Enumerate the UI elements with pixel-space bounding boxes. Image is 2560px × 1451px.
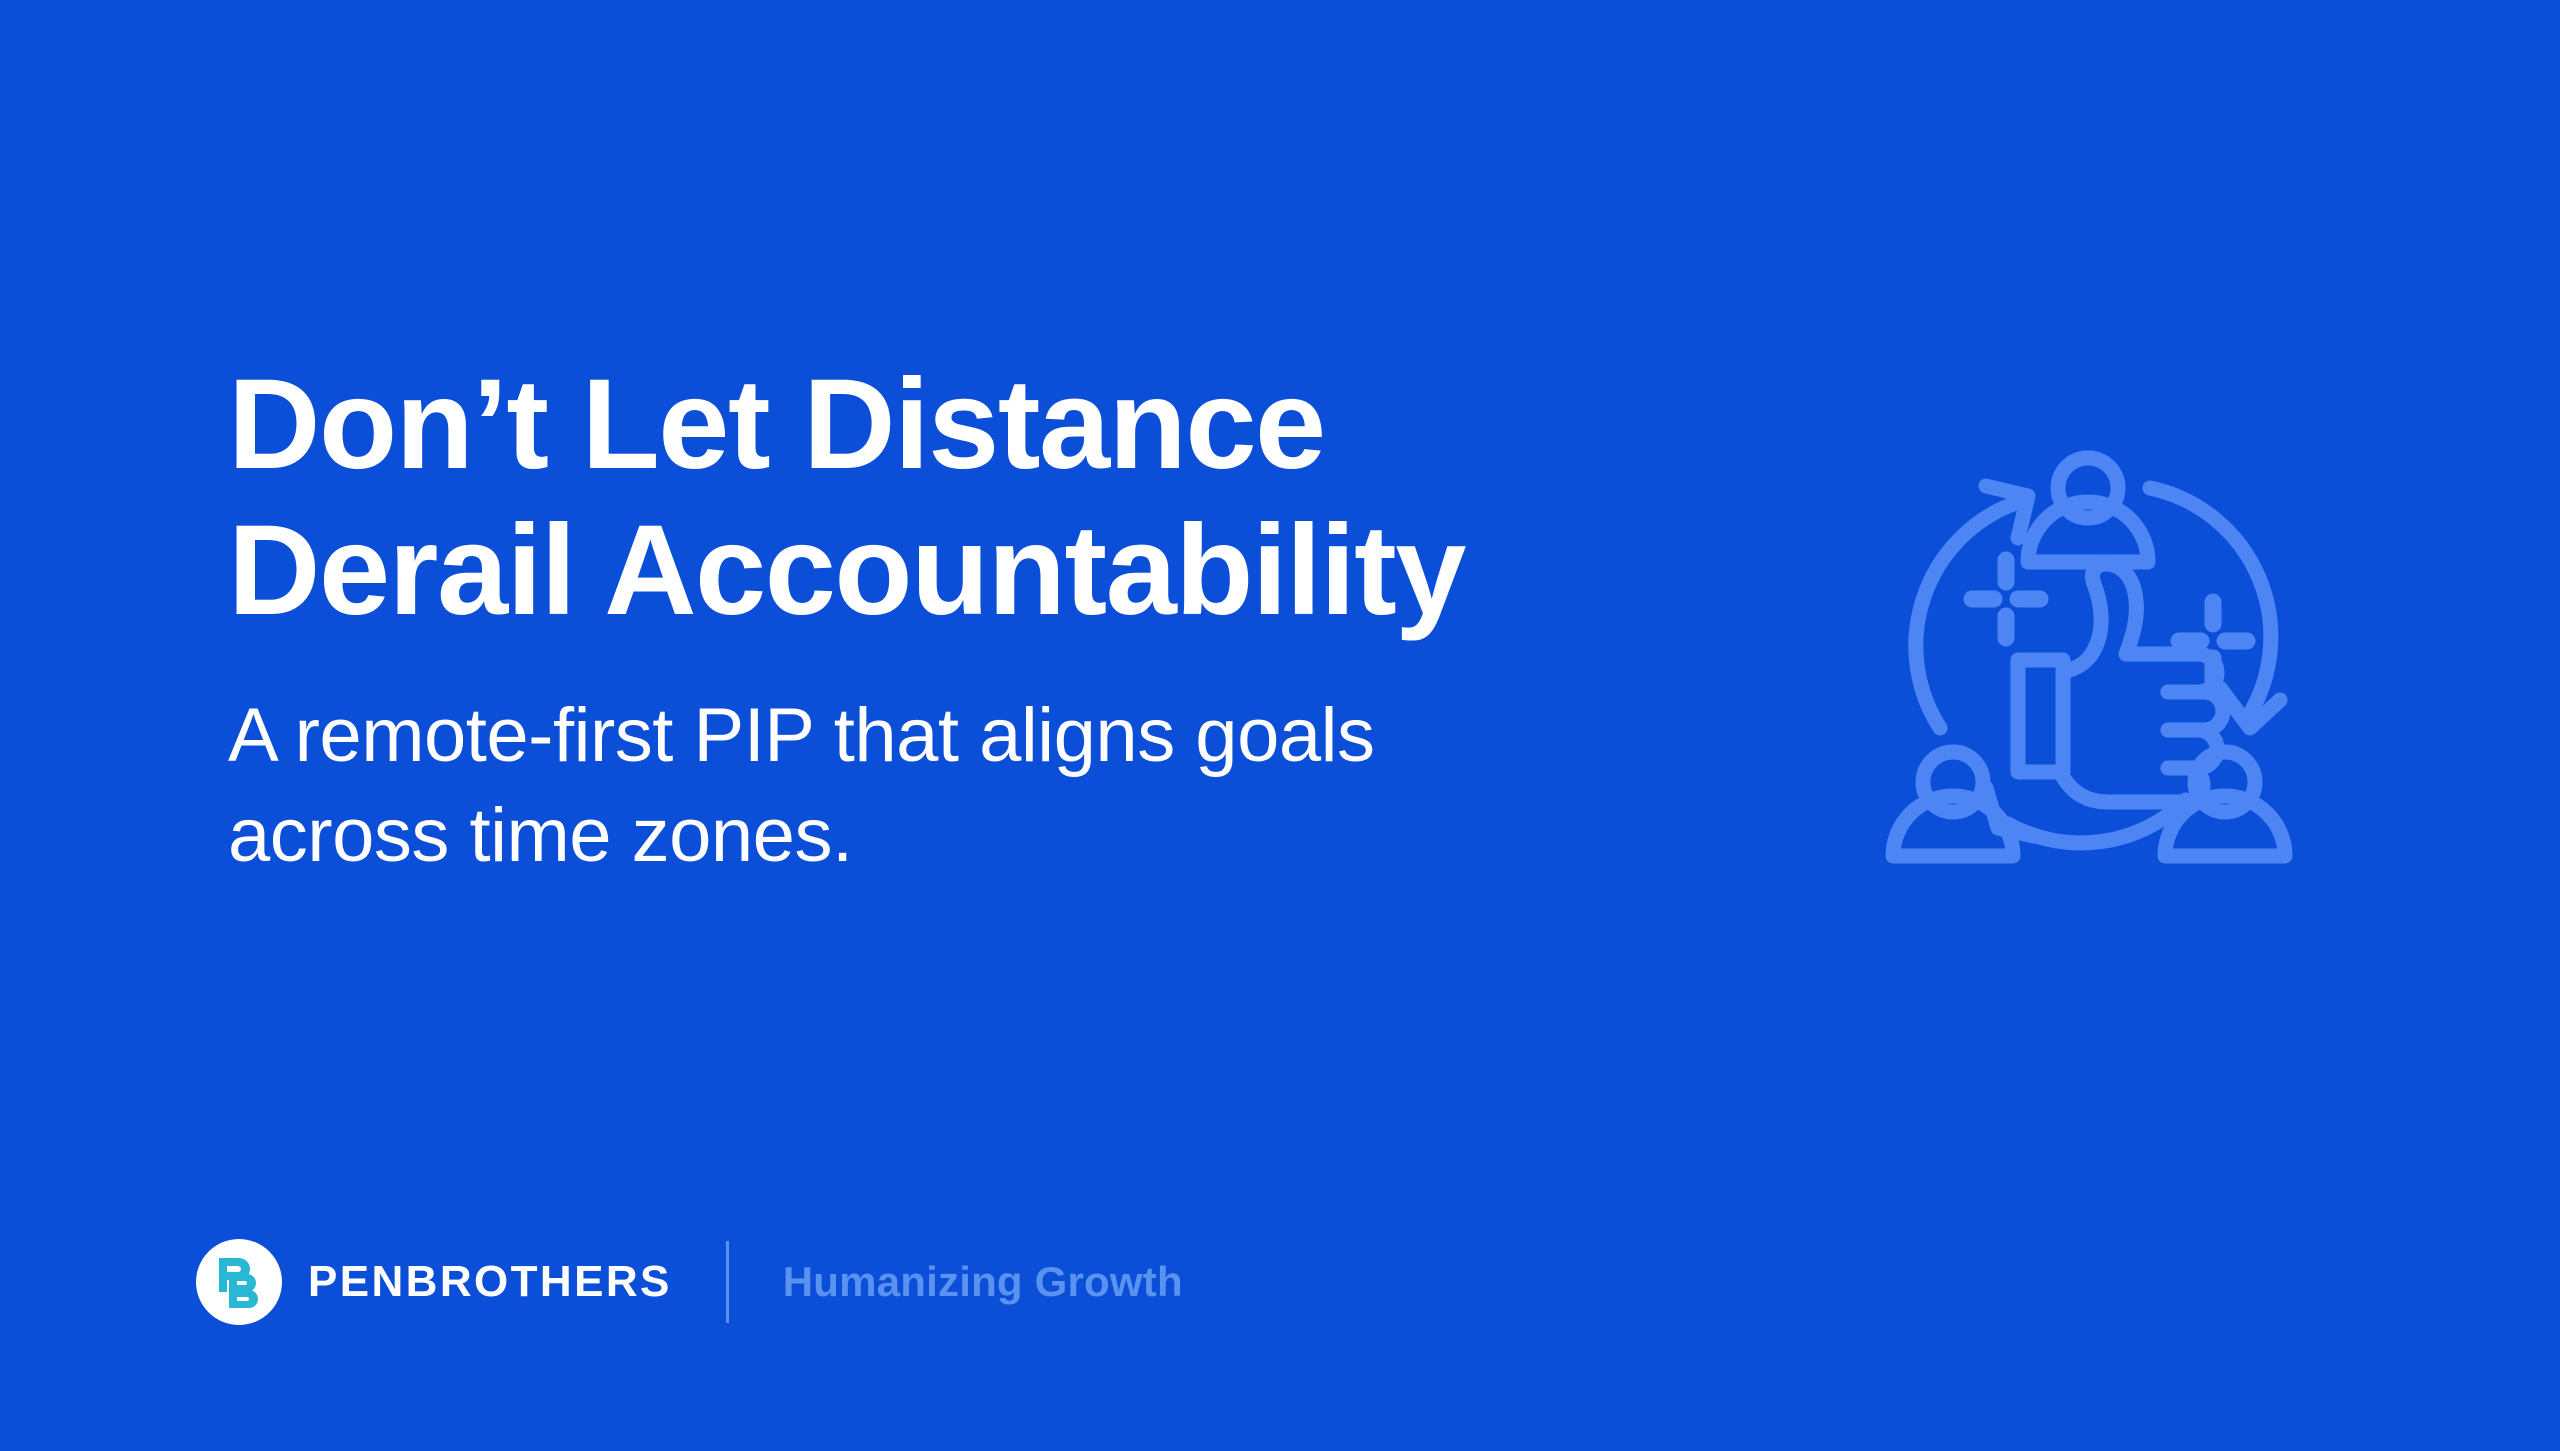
- vertical-divider: [726, 1241, 729, 1323]
- brand-tagline: Humanizing Growth: [783, 1261, 1183, 1303]
- collaboration-feedback-loop-illustration: [1868, 432, 2308, 872]
- copy-block: Don’t Let Distance Derail Accountability…: [228, 352, 1788, 886]
- brand-lockup: PENBROTHERS Humanizing Growth: [196, 1236, 1183, 1328]
- banner-slide: Don’t Let Distance Derail Accountability…: [0, 0, 2560, 1451]
- penbrothers-pb-monogram-icon: [196, 1239, 282, 1325]
- thumbs-up-icon: [2018, 564, 2223, 802]
- sparkle-icon-left: [1972, 560, 2040, 638]
- person-icon-top: [2028, 458, 2148, 562]
- page-subtitle: A remote-first PIP that aligns goals acr…: [228, 644, 1788, 887]
- person-icon-bottom-left: [1893, 752, 2013, 856]
- brand-wordmark: PENBROTHERS: [308, 1260, 672, 1304]
- page-title: Don’t Let Distance Derail Accountability: [228, 352, 1788, 644]
